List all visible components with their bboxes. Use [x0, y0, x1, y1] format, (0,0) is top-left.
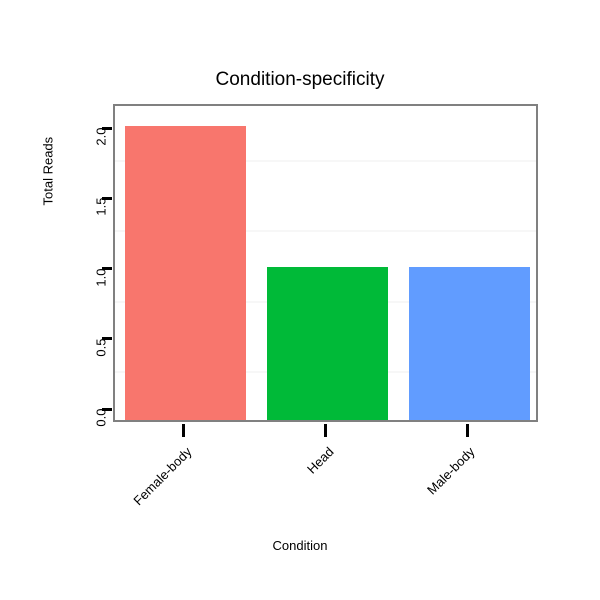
y-tick-label: 0.5	[94, 338, 109, 378]
plot-area	[115, 106, 536, 420]
chart-title: Condition-specificity	[0, 69, 600, 91]
x-tick-label: Male-body	[411, 444, 478, 511]
bar	[267, 267, 388, 420]
x-tick-mark	[324, 424, 327, 437]
y-tick-label: 0.0	[94, 409, 109, 449]
y-tick-label: 1.5	[94, 198, 109, 238]
x-tick-label: Female-body	[127, 444, 194, 511]
bar	[125, 126, 246, 420]
x-tick-mark	[182, 424, 185, 437]
y-tick-label: 2.0	[94, 128, 109, 168]
x-tick-mark	[466, 424, 469, 437]
y-tick-label: 1.0	[94, 268, 109, 308]
x-axis-title: Condition	[0, 538, 600, 553]
y-axis-title: Total Reads	[41, 190, 56, 206]
bar-chart-figure: Condition-specificity Total Reads 0.00.5…	[0, 0, 600, 600]
x-tick-label: Head	[269, 444, 336, 511]
plot-panel	[113, 104, 538, 422]
bar	[409, 267, 530, 420]
